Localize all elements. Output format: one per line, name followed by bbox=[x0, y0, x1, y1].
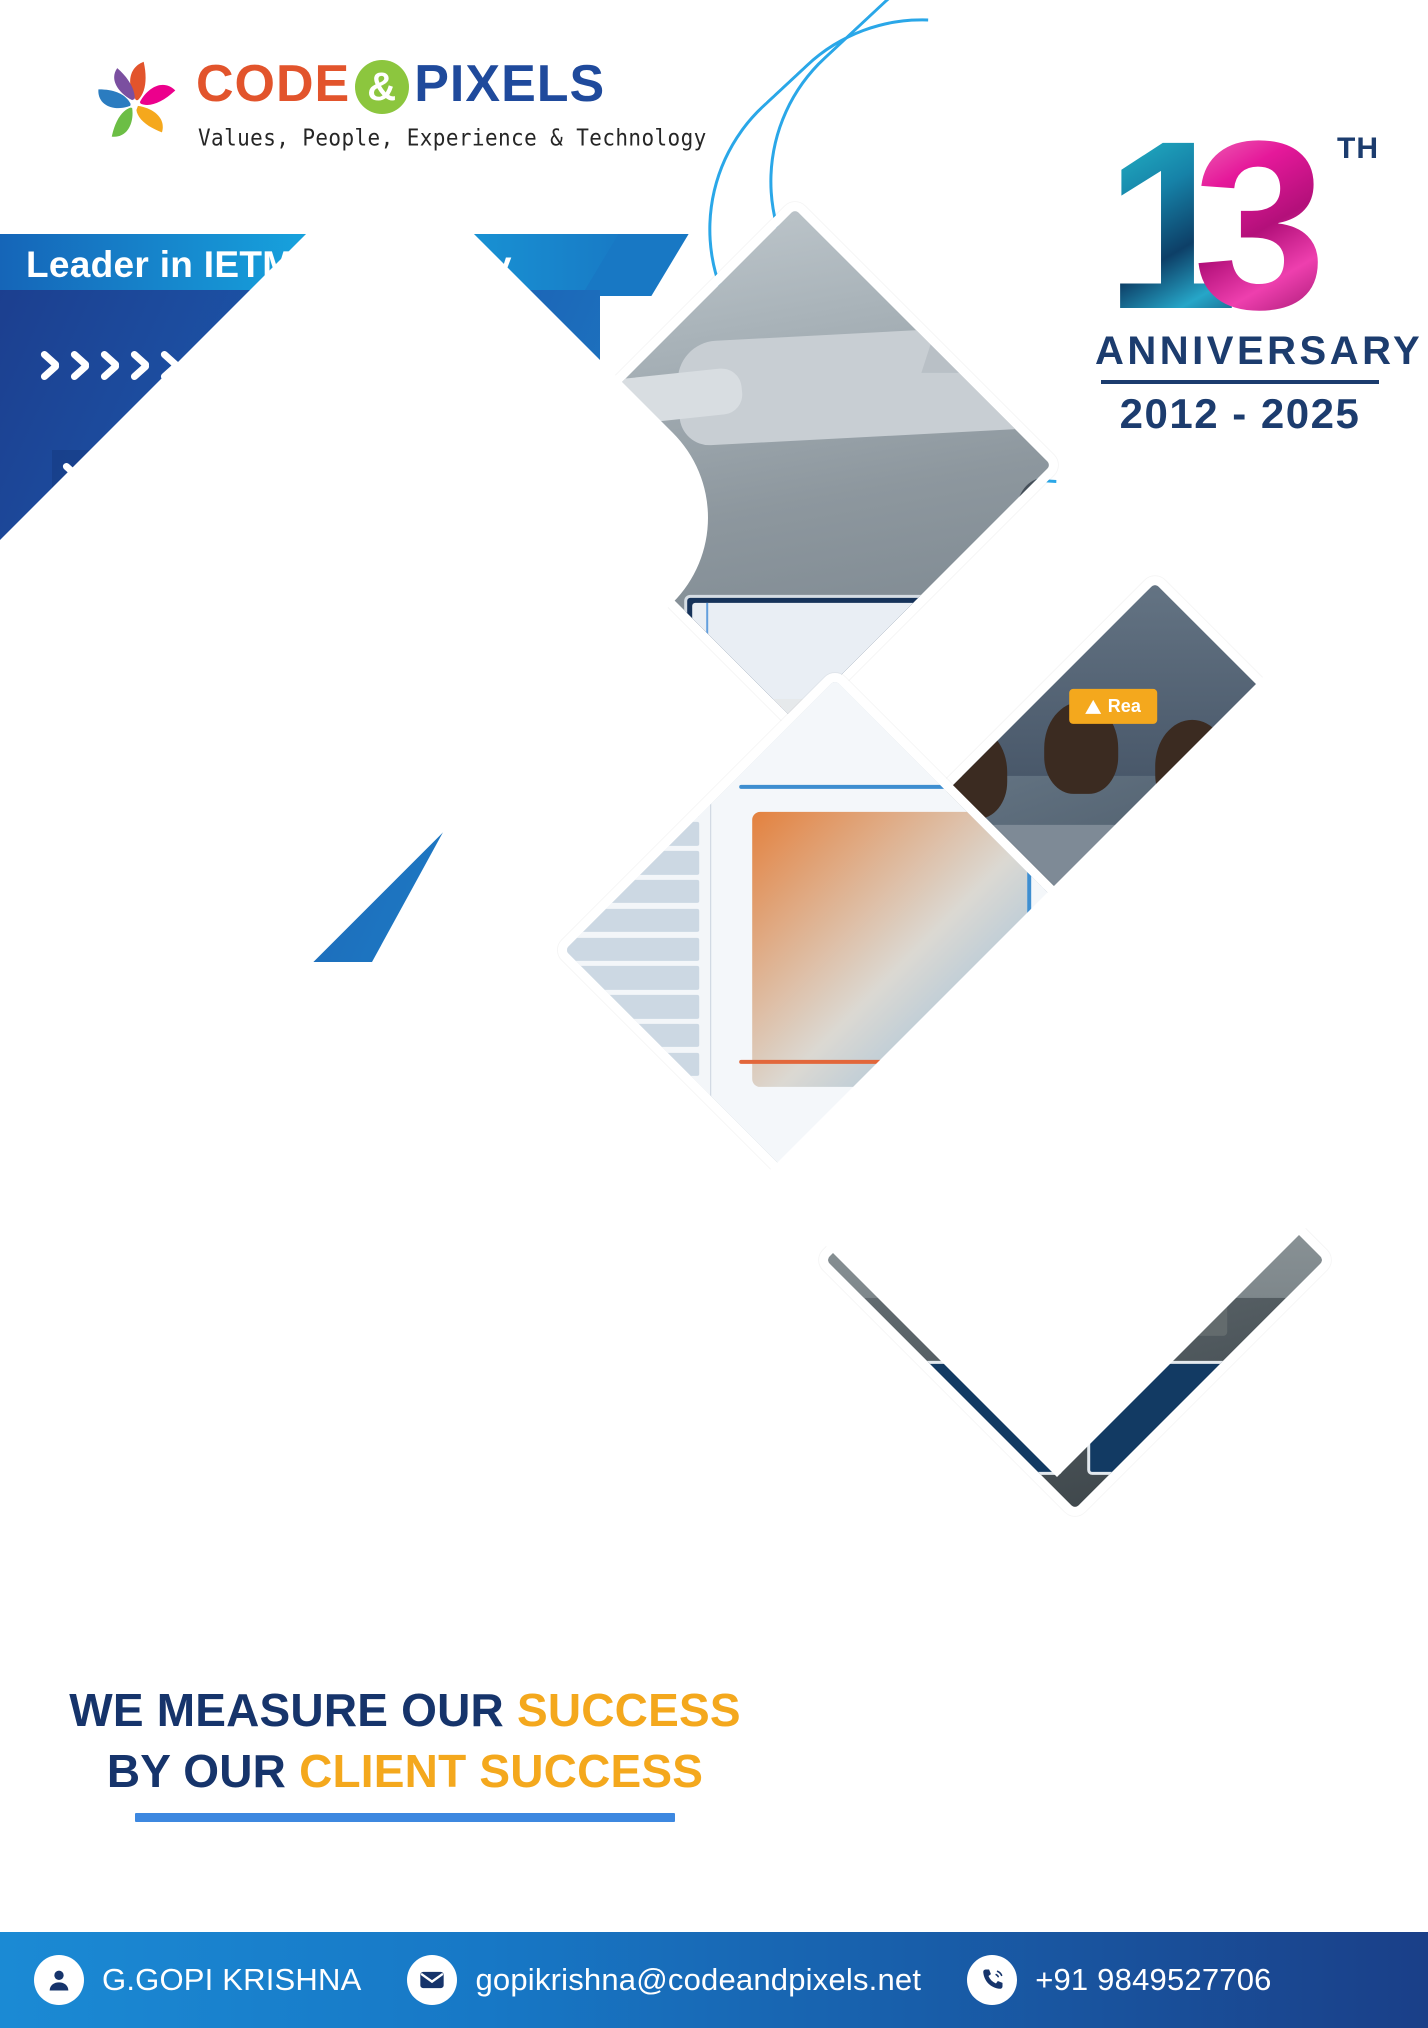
chevron-right-icon bbox=[88, 460, 114, 494]
person-icon bbox=[34, 1955, 84, 2005]
chevron-right-icon bbox=[118, 460, 144, 494]
tagline-underline bbox=[135, 1813, 675, 1822]
chevron-right-icon bbox=[268, 460, 294, 494]
chevron-row-1 bbox=[36, 348, 332, 382]
logo-wordmark: CODE&PIXELS bbox=[196, 58, 605, 114]
footer-name-text: G.GOPI KRISHNA bbox=[102, 1962, 361, 1998]
tagline-text-b: BY OUR bbox=[107, 1745, 299, 1797]
logo-ampersand: & bbox=[355, 60, 409, 114]
chevron-row-2 bbox=[52, 450, 396, 504]
chevron-right-icon bbox=[246, 348, 272, 382]
footer-email[interactable]: gopikrishna@codeandpixels.net bbox=[407, 1955, 921, 2005]
chevron-right-icon bbox=[238, 460, 264, 494]
headline-accent-qa: Q&A bbox=[34, 592, 137, 645]
pinwheel-logo-icon bbox=[88, 56, 184, 152]
phone-icon bbox=[967, 1955, 1017, 2005]
chevron-right-icon bbox=[36, 348, 62, 382]
chevron-right-icon bbox=[306, 348, 332, 382]
logo-code-text: CODE bbox=[196, 55, 350, 113]
chevron-right-icon bbox=[186, 348, 212, 382]
chevron-right-icon bbox=[58, 460, 84, 494]
tagline-accent-success: SUCCESS bbox=[517, 1684, 741, 1736]
chevron-right-icon bbox=[148, 460, 174, 494]
envelope-icon bbox=[407, 1955, 457, 2005]
anniversary-ordinal: TH bbox=[1337, 132, 1379, 166]
logo-tagline: Values, People, Experience & Technology bbox=[198, 124, 707, 151]
chevron-right-icon bbox=[126, 348, 152, 382]
chevron-right-icon bbox=[66, 348, 92, 382]
chevron-right-icon bbox=[96, 348, 122, 382]
dash-icon bbox=[362, 482, 384, 490]
poster-root: CODE&PIXELS Values, People, Experience &… bbox=[0, 0, 1428, 2028]
chevron-right-icon bbox=[216, 348, 242, 382]
tagline-line-1: WE MEASURE OUR SUCCESS bbox=[0, 1680, 810, 1741]
success-tagline: WE MEASURE OUR SUCCESS BY OUR CLIENT SUC… bbox=[0, 1680, 810, 1822]
contact-footer: G.GOPI KRISHNA gopikrishna@codeandpixels… bbox=[0, 1932, 1428, 2028]
fighter-jet-hangar-tablet-photo bbox=[526, 196, 1063, 733]
brand-logo[interactable]: CODE&PIXELS Values, People, Experience &… bbox=[88, 52, 558, 162]
chevron-right-icon bbox=[298, 460, 324, 494]
footer-email-text: gopikrishna@codeandpixels.net bbox=[475, 1962, 921, 1998]
chevron-right-icon bbox=[328, 460, 354, 494]
chevron-right-icon bbox=[156, 348, 182, 382]
tagline-text-a: WE MEASURE OUR bbox=[69, 1684, 517, 1736]
headline-text-a: The Ultimate bbox=[34, 521, 332, 574]
chevron-right-icon bbox=[276, 348, 302, 382]
tagline-accent-client-success: CLIENT SUCCESS bbox=[299, 1745, 703, 1797]
headline-text-b: Guide: bbox=[137, 592, 300, 645]
footer-phone[interactable]: +91 9849527706 bbox=[967, 1955, 1271, 2005]
chevron-right-icon bbox=[208, 460, 234, 494]
tagline-line-2: BY OUR CLIENT SUCCESS bbox=[0, 1741, 810, 1802]
ready-status-badge: Rea bbox=[1069, 690, 1157, 725]
chevron-right-icon bbox=[178, 460, 204, 494]
logo-pixels-text: PIXELS bbox=[414, 55, 605, 113]
footer-phone-text: +91 9849527706 bbox=[1035, 1962, 1271, 1998]
footer-contact-name[interactable]: G.GOPI KRISHNA bbox=[34, 1955, 361, 2005]
